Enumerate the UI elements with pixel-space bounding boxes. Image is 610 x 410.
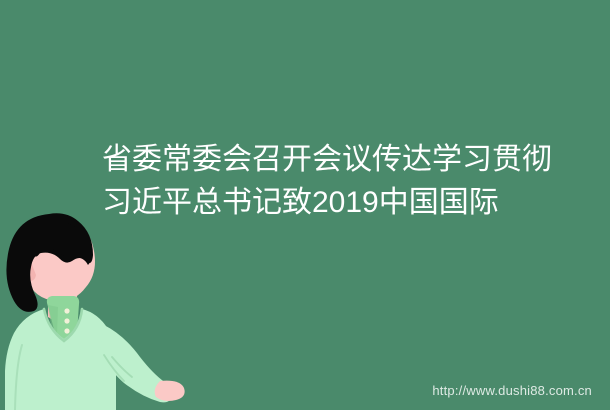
headline-line-1: 省委常委会召开会议传达学习贯彻 <box>102 138 522 181</box>
collar-button-2 <box>64 318 69 323</box>
image-canvas: 省委常委会召开会议传达学习贯彻 习近平总书记致2019中国国际 http://w… <box>0 0 610 410</box>
watermark-url: http://www.dushi88.com.cn <box>432 383 592 398</box>
headline-line-2: 习近平总书记致2019中国国际 <box>102 181 522 224</box>
collar-button-3 <box>64 328 69 333</box>
person-illustration <box>0 205 200 410</box>
collar-button-1 <box>64 308 69 313</box>
hand-shape <box>155 381 185 401</box>
headline-text: 省委常委会召开会议传达学习贯彻 习近平总书记致2019中国国际 <box>102 138 522 224</box>
